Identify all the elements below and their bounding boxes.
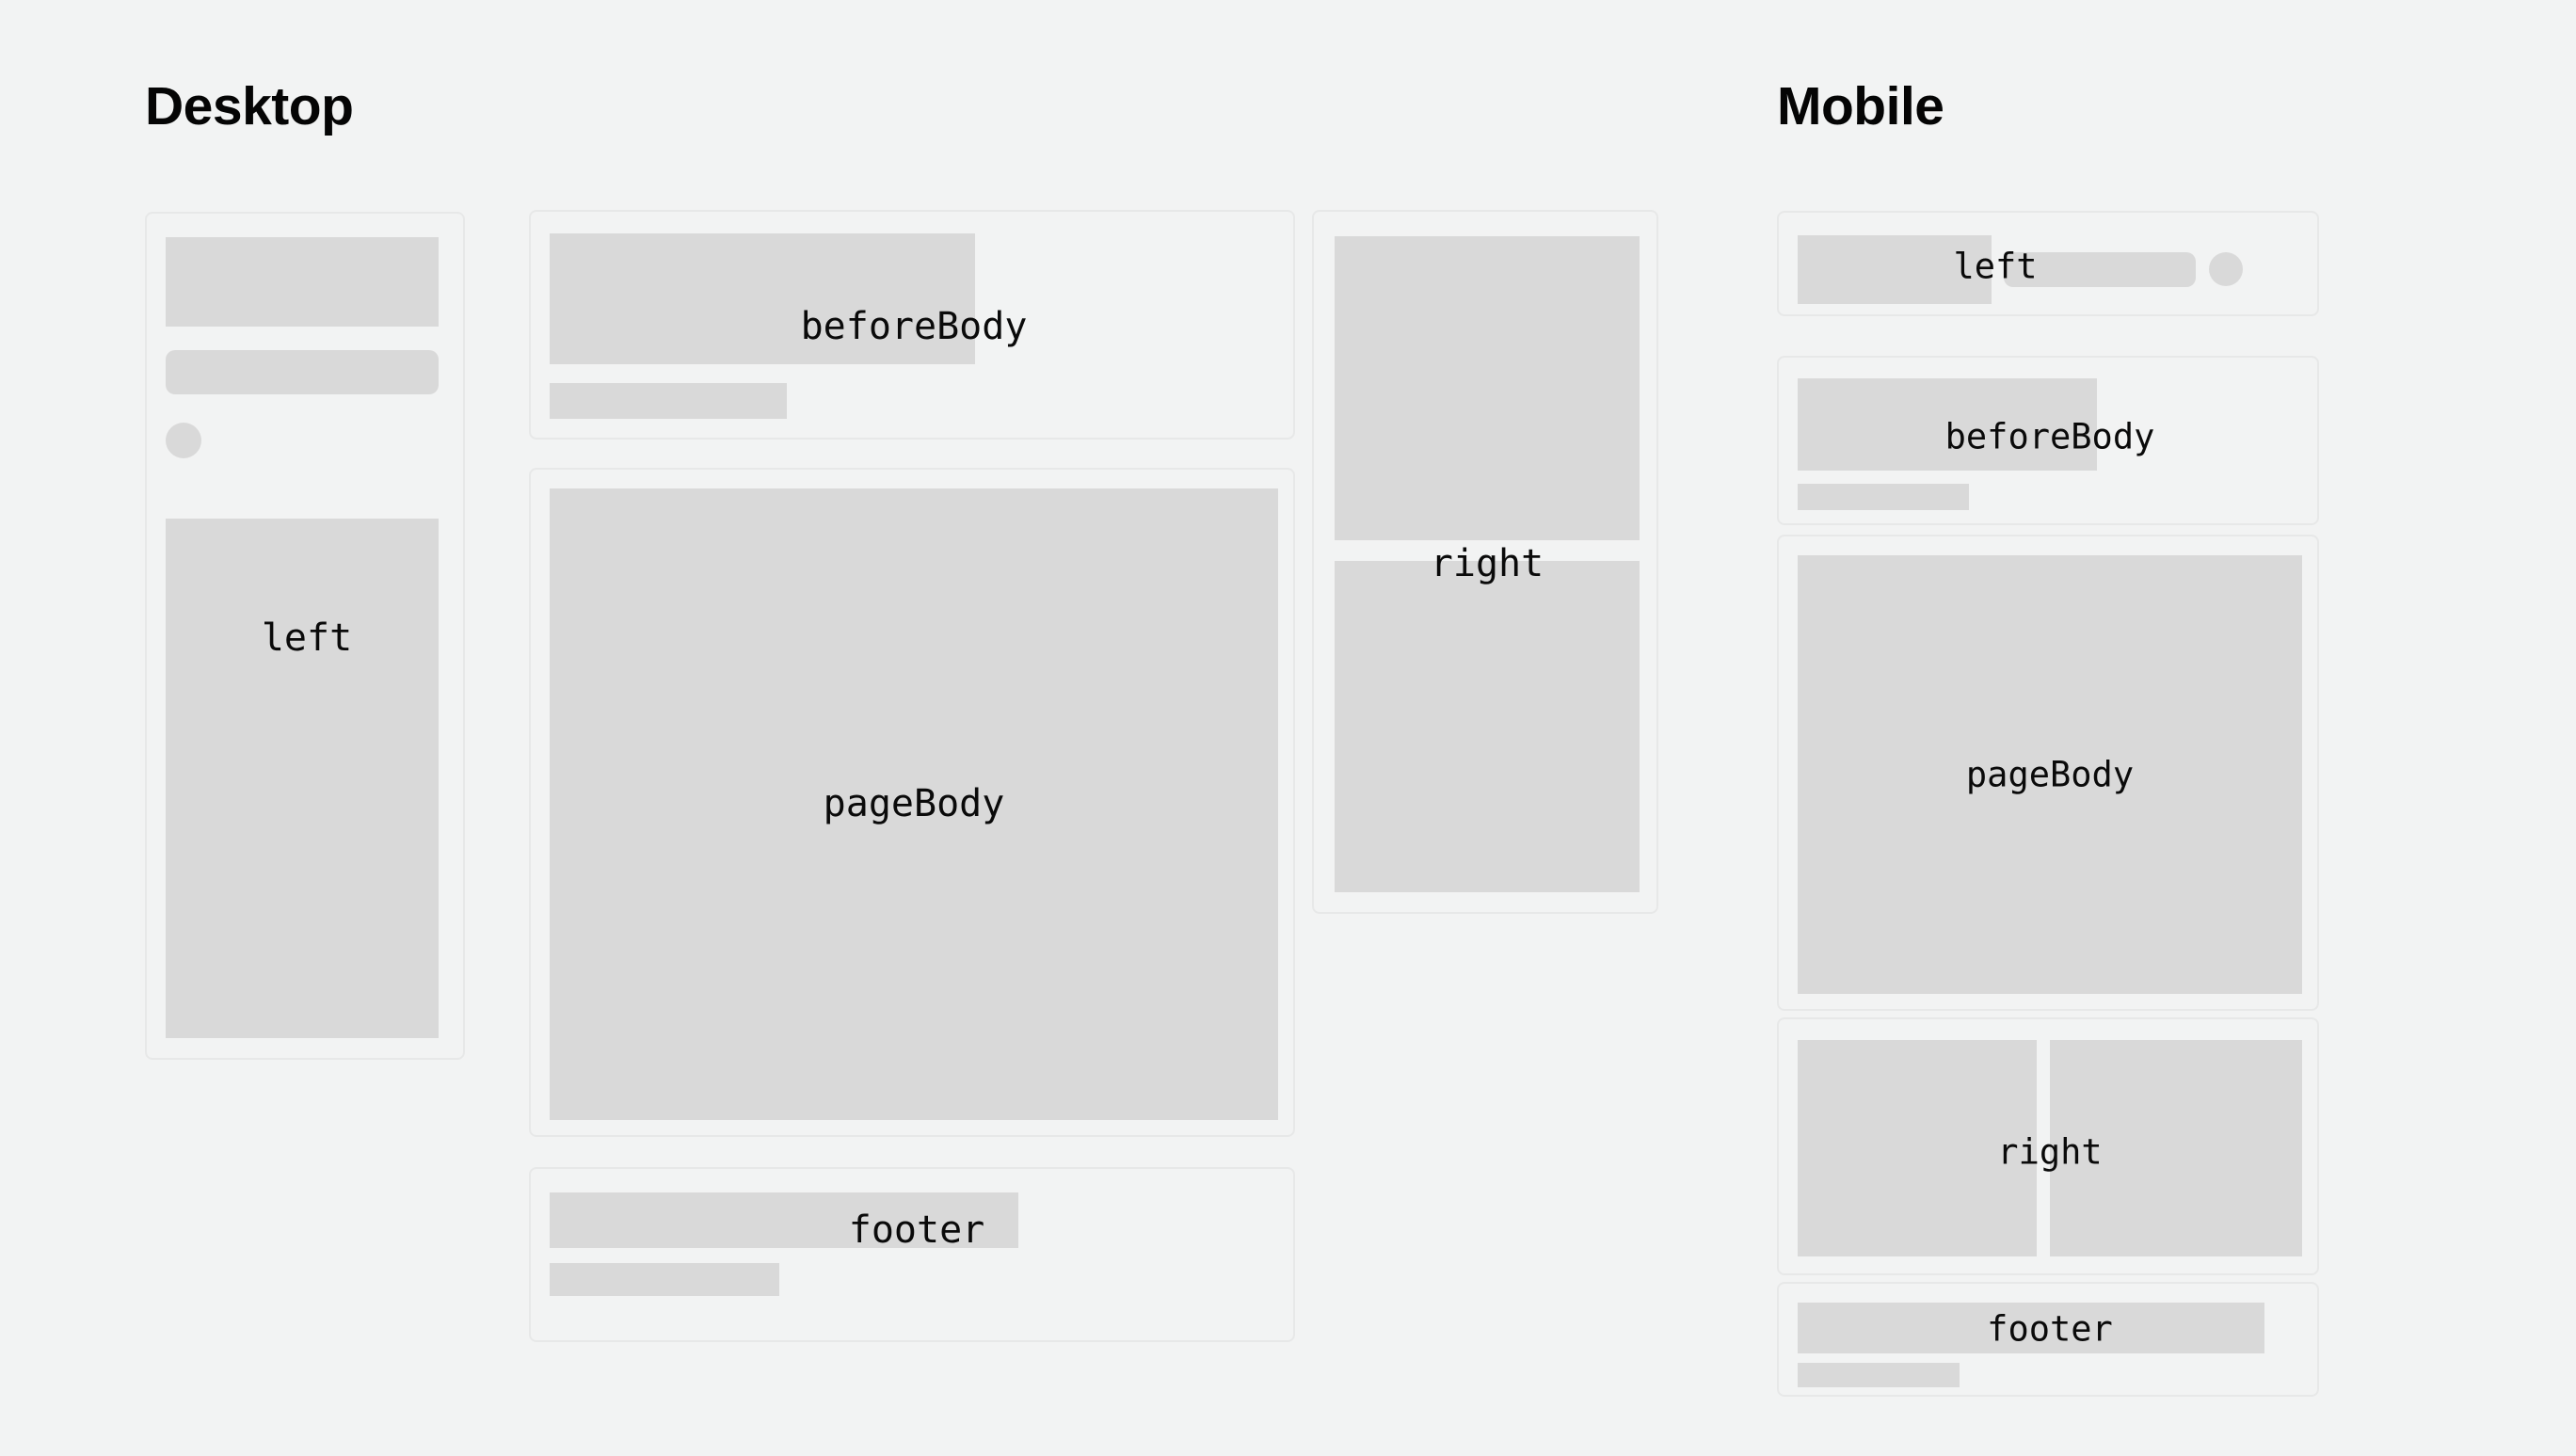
mobile-left-avatar-dot: [2209, 252, 2243, 286]
mobile-footer-sub-bar: [1798, 1363, 1960, 1387]
desktop-before-body-caption-bar: [550, 383, 787, 419]
desktop-page-body-panel[interactable]: pageBody: [529, 468, 1295, 1137]
mobile-page-body-panel[interactable]: pageBody: [1777, 535, 2319, 1011]
desktop-left-nav-block: [166, 519, 439, 1038]
mobile-before-body-banner-block: [1798, 378, 2097, 471]
desktop-before-body-banner-block: [550, 233, 975, 364]
mobile-left-subtitle-bar: [2004, 252, 2196, 287]
mobile-left-hero-block: [1798, 235, 1992, 304]
desktop-footer-bar: [550, 1192, 1018, 1248]
desktop-right-widget-block-top: [1335, 236, 1640, 540]
desktop-left-subtitle-bar: [166, 350, 439, 394]
mobile-section-title: Mobile: [1777, 80, 1944, 134]
mobile-right-widget-block-left: [1798, 1040, 2037, 1256]
mobile-right-widget-block-right: [2050, 1040, 2302, 1256]
desktop-footer-sub-bar: [550, 1263, 779, 1296]
desktop-right-panel[interactable]: right: [1312, 210, 1658, 914]
desktop-section-title: Desktop: [145, 80, 353, 134]
desktop-before-body-panel[interactable]: beforeBody: [529, 210, 1295, 440]
desktop-page-body-content-block: [550, 488, 1278, 1120]
mobile-footer-panel[interactable]: footer: [1777, 1282, 2319, 1397]
mobile-footer-bar: [1798, 1303, 2264, 1353]
mobile-before-body-panel[interactable]: beforeBody: [1777, 356, 2319, 525]
desktop-left-hero-block: [166, 237, 439, 327]
mobile-before-body-caption-bar: [1798, 484, 1969, 510]
desktop-footer-panel[interactable]: footer: [529, 1167, 1295, 1342]
desktop-left-panel[interactable]: left: [145, 212, 465, 1060]
desktop-left-avatar-dot: [166, 423, 201, 458]
responsive-layout-preview: Desktop left beforeBody pageBody right f…: [0, 0, 2576, 1456]
mobile-left-panel[interactable]: left: [1777, 211, 2319, 316]
mobile-page-body-content-block: [1798, 555, 2302, 994]
desktop-right-widget-block-bottom: [1335, 561, 1640, 892]
mobile-right-panel[interactable]: right: [1777, 1017, 2319, 1275]
